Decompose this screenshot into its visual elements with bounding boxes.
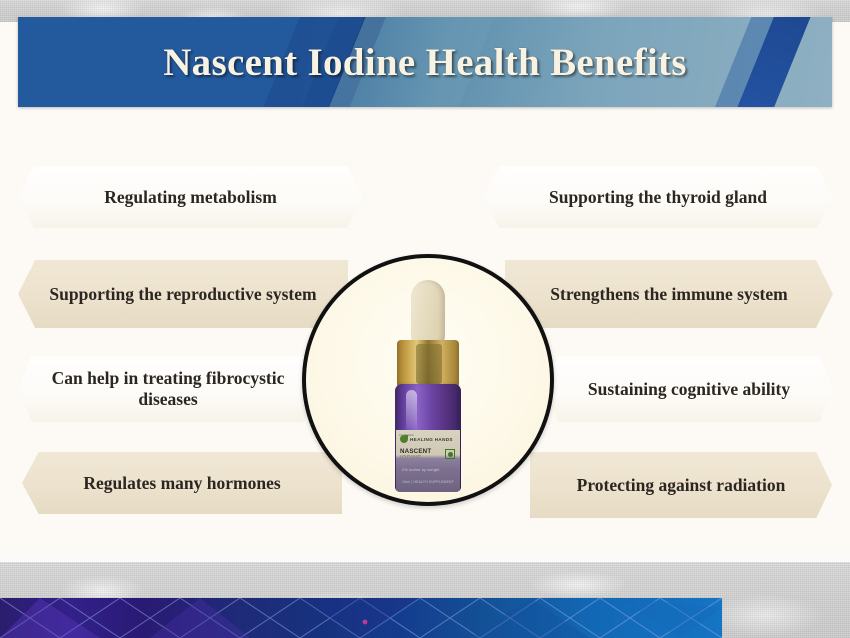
benefit-label: Protecting against radiation xyxy=(560,475,802,496)
benefit-item-strengthens-immune-system[interactable]: Strengthens the immune system xyxy=(505,260,833,328)
benefit-item-fibrocystic-diseases[interactable]: Can help in treating fibrocystic disease… xyxy=(18,356,318,422)
label-detail-line-2: 10ml | HEALTH SUPPLEMENT xyxy=(402,480,454,484)
benefit-item-supporting-reproductive-system[interactable]: Supporting the reproductive system xyxy=(18,260,348,328)
benefit-label: Sustaining cognitive ability xyxy=(575,379,803,400)
benefit-label: Regulates many hormones xyxy=(52,473,312,494)
benefit-item-supporting-thyroid-gland[interactable]: Supporting the thyroid gland xyxy=(483,166,833,228)
poster-canvas: Nascent Iodine Health Benefits Regulatin… xyxy=(0,0,850,638)
header-banner: Nascent Iodine Health Benefits xyxy=(18,17,832,107)
label-product-name: NASCENT xyxy=(400,448,431,455)
label-detail-line-1: 2% iodine by weight xyxy=(402,468,440,472)
benefit-item-regulating-metabolism[interactable]: Regulating metabolism xyxy=(18,166,363,228)
page-title: Nascent Iodine Health Benefits xyxy=(18,17,832,107)
vegetarian-mark-icon xyxy=(445,449,455,459)
product-bottle-illustration: AYURVEDA HEALING HANDS NASCENT IODINE 2%… xyxy=(380,280,476,492)
dropper-bulb-icon xyxy=(411,280,445,346)
bottle-gold-cap xyxy=(397,340,459,388)
benefit-label: Regulating metabolism xyxy=(48,187,333,208)
label-brand-name: HEALING HANDS xyxy=(410,437,453,442)
benefit-label: Supporting the thyroid gland xyxy=(513,187,803,208)
product-label: AYURVEDA HEALING HANDS NASCENT IODINE 2%… xyxy=(396,430,460,492)
bottle-purple-glass: AYURVEDA HEALING HANDS NASCENT IODINE 2%… xyxy=(395,384,461,492)
benefit-label: Supporting the reproductive system xyxy=(48,284,318,305)
label-product-name-second-line: IODINE xyxy=(400,455,422,461)
label-brand-row: HEALING HANDS xyxy=(400,435,453,443)
benefit-label: Can help in treating fibrocystic disease… xyxy=(48,368,288,409)
footer-polygon-pattern xyxy=(0,598,722,638)
benefits-layout: Regulating metabolism Supporting the rep… xyxy=(0,132,850,562)
benefit-item-sustaining-cognitive-ability[interactable]: Sustaining cognitive ability xyxy=(545,356,833,422)
product-image-circle: AYURVEDA HEALING HANDS NASCENT IODINE 2%… xyxy=(302,254,554,506)
footer-geometric-band xyxy=(0,598,722,638)
footer-accent-dot xyxy=(363,620,368,625)
benefit-label: Strengthens the immune system xyxy=(535,284,803,305)
leaf-icon xyxy=(400,435,408,443)
benefit-item-regulates-hormones[interactable]: Regulates many hormones xyxy=(22,452,342,514)
benefit-item-protecting-against-radiation[interactable]: Protecting against radiation xyxy=(530,452,832,518)
